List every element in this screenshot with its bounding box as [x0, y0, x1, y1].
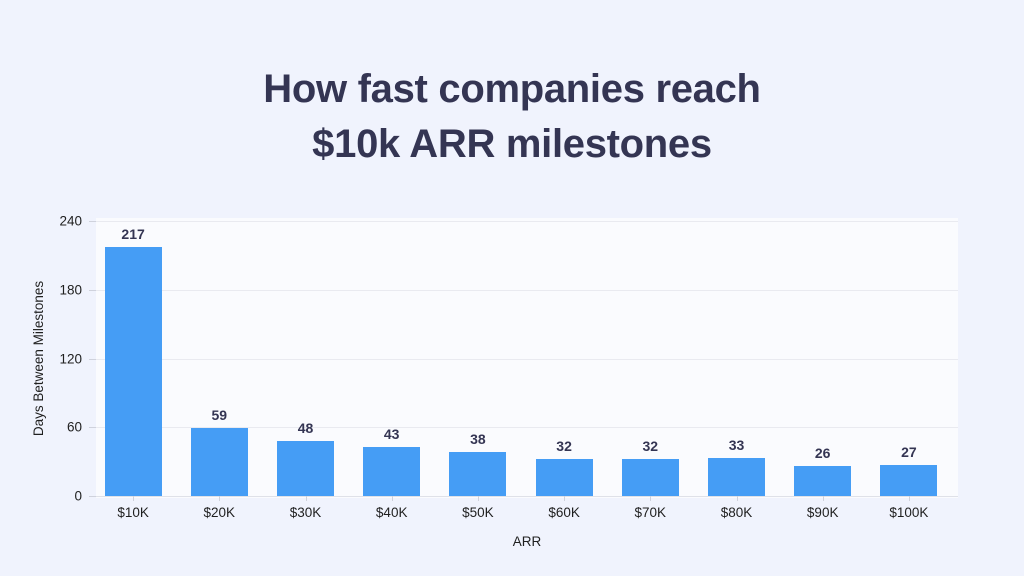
y-tick-label: 60 [67, 420, 82, 435]
x-tick-mark [392, 496, 393, 501]
x-tick-mark [909, 496, 910, 501]
x-tick-label: $50K [437, 505, 518, 520]
bar[interactable] [105, 247, 162, 496]
x-tick-mark [564, 496, 565, 501]
x-tick-mark [306, 496, 307, 501]
bar[interactable] [794, 466, 851, 496]
chart-title-line-1: How fast companies reach [263, 67, 760, 111]
y-tick-mark-120 [89, 359, 96, 360]
bar-group[interactable]: 38$50K [449, 221, 506, 496]
y-tick-mark-180 [89, 290, 96, 291]
y-tick-label: 240 [59, 214, 82, 229]
bar-series: 217$10K59$20K48$30K43$40K38$50K32$60K32$… [96, 221, 958, 496]
x-tick-label: $100K [868, 505, 949, 520]
bar[interactable] [277, 441, 334, 496]
x-tick-label: $60K [524, 505, 605, 520]
y-tick-mark-60 [89, 427, 96, 428]
y-tick-label: 120 [59, 351, 82, 366]
bar-value-label: 33 [708, 437, 765, 453]
bar[interactable] [622, 459, 679, 496]
bar-value-label: 59 [191, 407, 248, 423]
x-tick-mark [650, 496, 651, 501]
x-tick-label: $70K [610, 505, 691, 520]
bar-value-label: 27 [880, 444, 937, 460]
x-tick-label: $40K [351, 505, 432, 520]
y-tick-mark-240 [89, 221, 96, 222]
bar[interactable] [708, 458, 765, 496]
bar-value-label: 43 [363, 426, 420, 442]
bar-group[interactable]: 217$10K [105, 221, 162, 496]
y-axis-title: Days Between Milestones [30, 0, 48, 221]
bar[interactable] [536, 459, 593, 496]
slide-canvas: How fast companies reach $10k ARR milest… [0, 0, 1024, 576]
bar-group[interactable]: 33$80K [708, 221, 765, 496]
bar[interactable] [363, 447, 420, 496]
bar-value-label: 217 [105, 226, 162, 242]
bar-value-label: 38 [449, 431, 506, 447]
chart-title: How fast companies reach $10k ARR milest… [0, 62, 1024, 172]
bar-group[interactable]: 48$30K [277, 221, 334, 496]
bar[interactable] [191, 428, 248, 496]
x-tick-label: $90K [782, 505, 863, 520]
bar-group[interactable]: 43$40K [363, 221, 420, 496]
gridline-0 [96, 496, 958, 497]
bar-value-label: 48 [277, 420, 334, 436]
bar-group[interactable]: 26$90K [794, 221, 851, 496]
x-tick-mark [737, 496, 738, 501]
x-tick-label: $10K [93, 505, 174, 520]
chart-plot-area: 060120180240 217$10K59$20K48$30K43$40K38… [96, 221, 958, 496]
bar-group[interactable]: 27$100K [880, 221, 937, 496]
bar-group[interactable]: 32$60K [536, 221, 593, 496]
x-tick-label: $20K [179, 505, 260, 520]
y-tick-mark-0 [89, 496, 96, 497]
bar[interactable] [880, 465, 937, 496]
bar-group[interactable]: 32$70K [622, 221, 679, 496]
x-tick-mark [823, 496, 824, 501]
x-tick-label: $30K [265, 505, 346, 520]
x-tick-mark [478, 496, 479, 501]
bar-value-label: 32 [536, 438, 593, 454]
y-tick-label: 0 [74, 489, 82, 504]
y-axis-title-label: Days Between Milestones [30, 221, 48, 496]
bar-value-label: 26 [794, 445, 851, 461]
y-tick-label: 180 [59, 282, 82, 297]
bar[interactable] [449, 452, 506, 496]
bar-group[interactable]: 59$20K [191, 221, 248, 496]
slide-content: How fast companies reach $10k ARR milest… [0, 0, 1024, 576]
x-tick-mark [133, 496, 134, 501]
x-tick-label: $80K [696, 505, 777, 520]
chart-title-line-2: $10k ARR milestones [312, 122, 712, 166]
x-axis-title: ARR [96, 534, 958, 549]
bar-value-label: 32 [622, 438, 679, 454]
x-tick-mark [219, 496, 220, 501]
